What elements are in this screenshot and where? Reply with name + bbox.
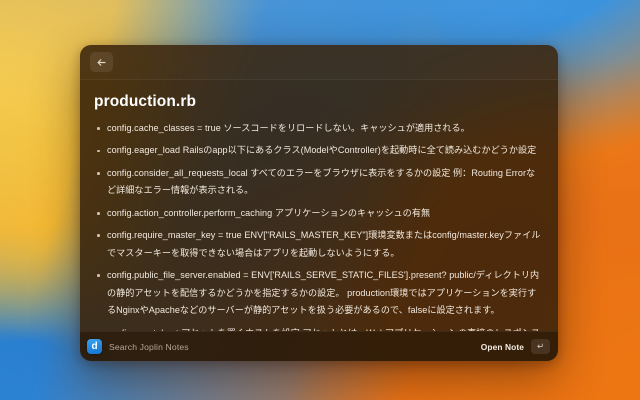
bullet-point-icon bbox=[97, 274, 100, 277]
list-item-text: config.asset_host アセットを置くホストを設定 アセットとは、W… bbox=[107, 328, 540, 331]
note-bullet-list: config.cache_classes = true ソースコードをリロードし… bbox=[94, 120, 544, 331]
arrow-left-icon bbox=[96, 57, 107, 68]
return-key-icon[interactable]: ↵ bbox=[531, 339, 550, 354]
list-item: config.asset_host アセットを置くホストを設定 アセットとは、W… bbox=[94, 325, 544, 331]
list-item-text: config.eager_load Railsのapp以下にあるクラス(Mode… bbox=[107, 145, 536, 155]
list-item-text: config.require_master_key = true ENV["RA… bbox=[107, 230, 540, 257]
launcher-panel: production.rb config.cache_classes = tru… bbox=[80, 45, 558, 361]
list-item-text: config.consider_all_requests_local すべてのエ… bbox=[107, 168, 535, 195]
list-item-text: config.action_controller.perform_caching… bbox=[107, 208, 430, 218]
open-note-action-label[interactable]: Open Note bbox=[481, 342, 524, 352]
back-button[interactable] bbox=[90, 52, 113, 72]
bullet-point-icon bbox=[97, 234, 100, 237]
list-item: config.action_controller.perform_caching… bbox=[94, 205, 544, 222]
list-item: config.consider_all_requests_local すべてのエ… bbox=[94, 165, 544, 200]
note-preview-body[interactable]: production.rb config.cache_classes = tru… bbox=[80, 80, 558, 331]
bullet-point-icon bbox=[97, 127, 100, 130]
list-item: config.require_master_key = true ENV["RA… bbox=[94, 227, 544, 262]
list-item: config.eager_load Railsのapp以下にあるクラス(Mode… bbox=[94, 142, 544, 159]
bullet-point-icon bbox=[97, 150, 100, 153]
bullet-point-icon bbox=[97, 172, 100, 175]
list-item: config.public_file_server.enabled = ENV[… bbox=[94, 267, 544, 319]
bullet-point-icon bbox=[97, 212, 100, 215]
joplin-app-icon: d bbox=[87, 339, 102, 354]
list-item-text: config.public_file_server.enabled = ENV[… bbox=[107, 270, 539, 315]
list-item: config.cache_classes = true ソースコードをリロードし… bbox=[94, 120, 544, 137]
search-bar: d Open Note ↵ bbox=[80, 331, 558, 361]
search-input[interactable] bbox=[109, 342, 474, 352]
note-title: production.rb bbox=[94, 93, 544, 111]
panel-header bbox=[80, 45, 558, 80]
list-item-text: config.cache_classes = true ソースコードをリロードし… bbox=[107, 123, 470, 133]
